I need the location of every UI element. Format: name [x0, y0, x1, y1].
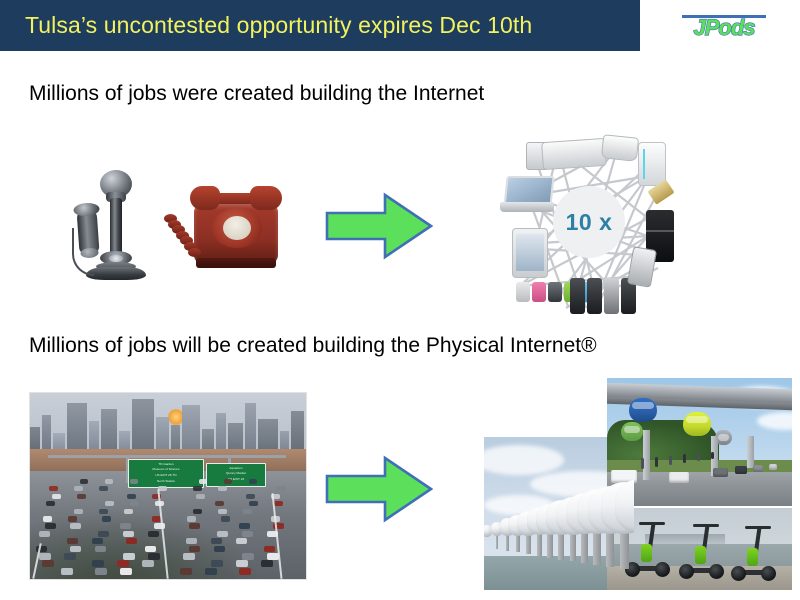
jpods-logo: JPods — [676, 14, 772, 40]
pod-car-green — [621, 422, 643, 441]
traffic-sign-gantry — [48, 455, 286, 458]
laptop-icon — [500, 176, 554, 216]
rotary-phone-dial — [212, 208, 262, 248]
green-right-arrow-top — [325, 192, 433, 260]
rotary-phone-handset — [190, 186, 282, 210]
logo-text: JPods — [676, 14, 772, 40]
game-console-white-icon — [638, 142, 666, 186]
pods-support-column-1 — [643, 430, 650, 480]
highway-sign-2: Aquarium Quincy Market US EXIT 23 — [206, 463, 266, 487]
device-network-collage: 10 x — [498, 136, 674, 312]
suspended-pod-transit-image — [607, 378, 792, 506]
electric-scooters-image — [607, 508, 792, 590]
tablet-icon — [512, 228, 548, 278]
slide: Tulsa’s uncontested opportunity expires … — [0, 0, 800, 600]
pod-car-blue — [629, 398, 657, 422]
rotary-phone-cord — [164, 214, 200, 258]
pod-car-yellow — [683, 412, 711, 436]
wifi-router-icon — [541, 138, 607, 170]
collage-multiplier-label: 10 x — [553, 186, 625, 258]
pods-support-column-3 — [747, 436, 754, 468]
phone-stem — [110, 198, 122, 256]
scooter-3 — [731, 526, 775, 584]
highway-traffic-image: TD Garden Museum of Science US EXIT 26 T… — [29, 392, 307, 580]
highway-sign-1: TD Garden Museum of Science US EXIT 26 T… — [128, 459, 204, 488]
headline-internet: Millions of jobs were created building t… — [29, 82, 484, 106]
rotary-telephone-image — [160, 178, 288, 278]
headline-physical-internet: Millions of jobs will be created buildin… — [29, 334, 597, 358]
page-title: Tulsa’s uncontested opportunity expires … — [25, 11, 532, 39]
phone-receiver — [76, 207, 99, 254]
access-point-icon — [601, 134, 639, 162]
green-right-arrow-bottom — [325, 455, 433, 523]
candlestick-telephone-image — [72, 168, 160, 280]
phone-base — [86, 267, 146, 280]
scooter-2 — [679, 524, 723, 582]
